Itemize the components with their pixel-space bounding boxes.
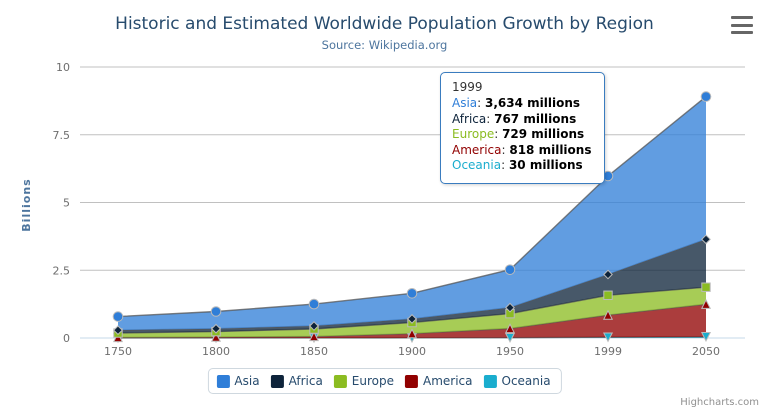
legend-label-europe: Europe xyxy=(352,374,394,388)
point-asia-2050[interactable] xyxy=(701,92,711,102)
y-axis-tick-label: 5 xyxy=(63,197,70,210)
tooltip-series-name: Asia xyxy=(452,96,477,110)
tooltip-row-africa: Africa: 767 millions xyxy=(452,112,592,128)
credits-label: Highcharts.com xyxy=(680,397,759,408)
chart-legend[interactable]: Asia Africa Europe America Oceania xyxy=(207,368,561,394)
point-asia-1800[interactable] xyxy=(211,307,221,317)
x-axis-tick-label: 1900 xyxy=(398,345,426,358)
tooltip-separator: : xyxy=(501,158,509,172)
x-axis-tick-label: 1850 xyxy=(300,345,328,358)
x-axis-tick-label: 1999 xyxy=(594,345,622,358)
tooltip-separator: : xyxy=(494,127,502,141)
x-axis-tick-label: 2050 xyxy=(692,345,720,358)
y-axis-tick-label: 7.5 xyxy=(53,129,71,142)
highcharts-container: Historic and Estimated Worldwide Populat… xyxy=(0,0,769,416)
x-axis-tick-label: 1800 xyxy=(202,345,230,358)
legend-item-europe[interactable]: Europe xyxy=(334,374,394,388)
legend-item-america[interactable]: America xyxy=(405,374,473,388)
legend-label-asia: Asia xyxy=(234,374,259,388)
tooltip-rows: Asia: 3,634 millionsAfrica: 767 millions… xyxy=(452,96,592,174)
y-axis-tick-label: 0 xyxy=(63,332,70,345)
legend-item-asia[interactable]: Asia xyxy=(216,374,259,388)
tooltip-row-oceania: Oceania: 30 millions xyxy=(452,158,592,174)
x-axis-tick-label: 1750 xyxy=(104,345,132,358)
legend-swatch-asia xyxy=(216,375,229,388)
tooltip-series-value: 767 millions xyxy=(494,112,576,126)
legend-label-oceania: Oceania xyxy=(502,374,551,388)
tooltip-series-name: America xyxy=(452,143,502,157)
tooltip-series-name: Oceania xyxy=(452,158,501,172)
tooltip-series-value: 729 millions xyxy=(502,127,584,141)
legend-label-america: America xyxy=(423,374,473,388)
tooltip-series-name: Europe xyxy=(452,127,494,141)
plot-area: 02.557.510 1750180018501900195019992050 … xyxy=(0,0,769,416)
series-tooltip: 1999 Asia: 3,634 millionsAfrica: 767 mil… xyxy=(440,72,605,184)
x-axis-tick-label: 1950 xyxy=(496,345,524,358)
point-asia-1750[interactable] xyxy=(113,312,123,322)
y-axis-tick-label: 2.5 xyxy=(53,264,71,277)
point-europe-2050[interactable] xyxy=(702,283,710,291)
series-areas xyxy=(118,97,706,338)
legend-swatch-america xyxy=(405,375,418,388)
tooltip-series-value: 30 millions xyxy=(509,158,583,172)
point-asia-1900[interactable] xyxy=(407,288,417,298)
tooltip-separator: : xyxy=(486,112,494,126)
legend-swatch-africa xyxy=(271,375,284,388)
legend-swatch-europe xyxy=(334,375,347,388)
tooltip-series-value: 3,634 millions xyxy=(485,96,580,110)
tooltip-row-america: America: 818 millions xyxy=(452,143,592,159)
legend-swatch-oceania xyxy=(484,375,497,388)
y-axis-title: Billions xyxy=(20,178,33,231)
point-europe-1999[interactable] xyxy=(604,291,612,299)
y-axis-tick-labels: 02.557.510 xyxy=(53,61,71,345)
tooltip-row-europe: Europe: 729 millions xyxy=(452,127,592,143)
tooltip-header: 1999 xyxy=(452,80,592,94)
point-asia-1950[interactable] xyxy=(505,265,515,275)
tooltip-row-asia: Asia: 3,634 millions xyxy=(452,96,592,112)
legend-item-oceania[interactable]: Oceania xyxy=(484,374,551,388)
legend-label-africa: Africa xyxy=(289,374,323,388)
tooltip-separator: : xyxy=(477,96,485,110)
legend-item-africa[interactable]: Africa xyxy=(271,374,323,388)
y-axis-tick-label: 10 xyxy=(56,61,70,74)
x-axis-tick-labels: 1750180018501900195019992050 xyxy=(104,345,720,358)
tooltip-series-name: Africa xyxy=(452,112,486,126)
tooltip-series-value: 818 millions xyxy=(509,143,591,157)
point-asia-1850[interactable] xyxy=(309,299,319,309)
